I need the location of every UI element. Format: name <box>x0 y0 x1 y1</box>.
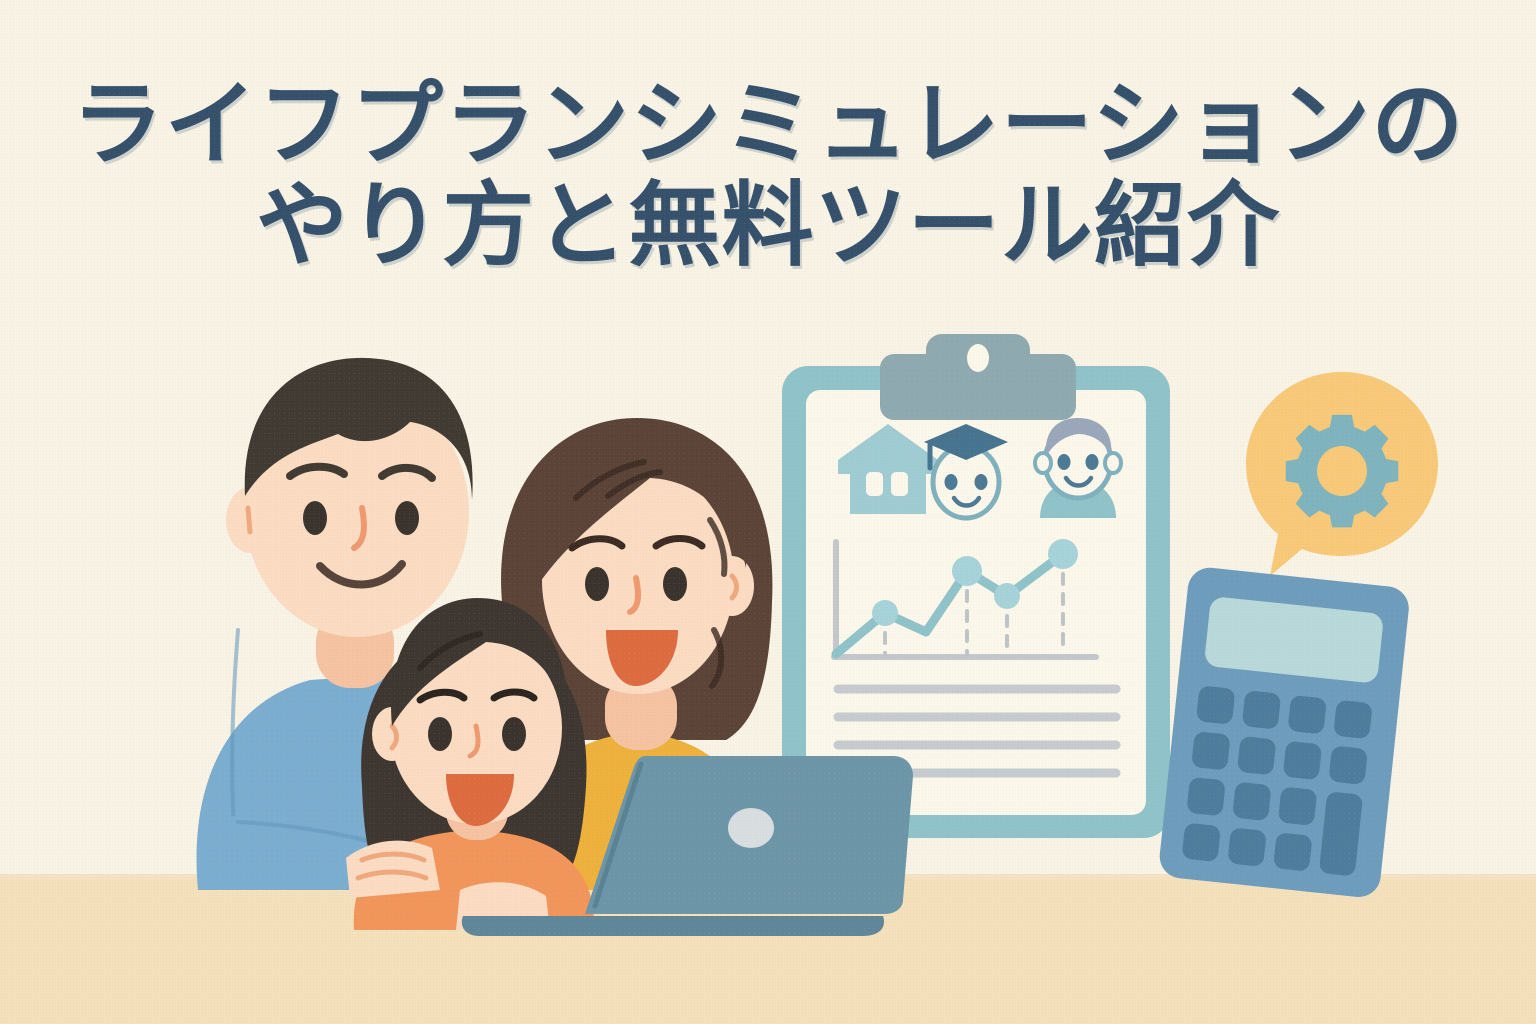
child-eye-right <box>502 717 526 751</box>
clipboard-clip <box>880 334 1076 420</box>
gear-hole <box>1317 446 1367 496</box>
page-title: ライフプランシミュレーションの やり方と無料ツール紹介 <box>0 78 1536 274</box>
child-eye-left <box>428 717 452 751</box>
father-eye-right <box>395 501 419 535</box>
laptop <box>455 748 915 948</box>
laptop-base <box>462 916 884 936</box>
calculator <box>1145 565 1435 905</box>
mother-eye-left <box>585 567 609 601</box>
gear-icon <box>1286 415 1398 527</box>
settings-speech-bubble <box>1232 368 1452 583</box>
laptop-logo <box>728 808 774 848</box>
clipboard-icon-row <box>838 418 1121 518</box>
banner-root: ライフプランシミュレーションの やり方と無料ツール紹介 <box>0 0 1536 1024</box>
title-line-1: ライフプランシミュレーションの <box>0 78 1536 173</box>
mother-eye-right <box>663 567 687 601</box>
clip-hole <box>967 344 989 372</box>
title-line-2: やり方と無料ツール紹介 <box>0 179 1536 274</box>
father-eye-left <box>303 501 327 535</box>
